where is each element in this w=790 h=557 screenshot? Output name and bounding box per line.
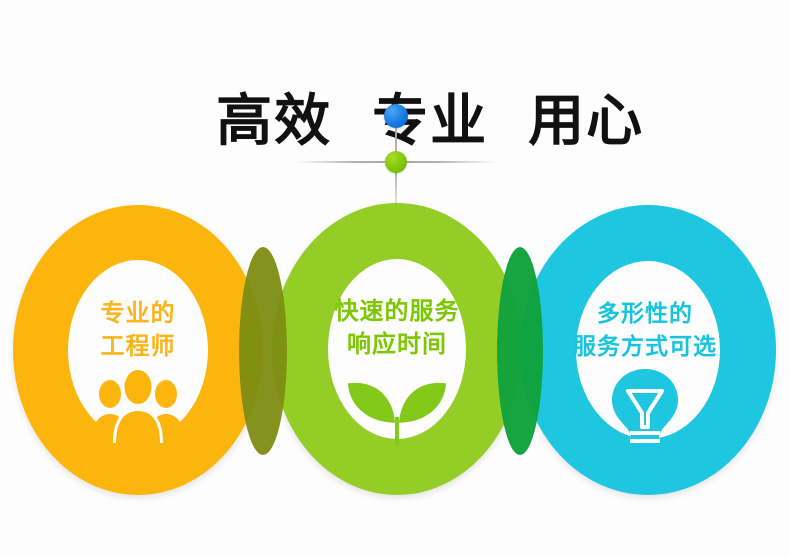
blue-node-icon <box>384 104 408 128</box>
ring-response <box>272 203 522 495</box>
headline-word-3: 用心 <box>528 90 644 152</box>
green-node-icon <box>385 151 407 173</box>
ring-engineers <box>13 205 263 495</box>
promo-poster: 高效专业用心 专业的 工程师 <box>0 0 790 557</box>
ring-flexible <box>520 205 776 495</box>
headline-word-1: 高效 <box>216 90 332 152</box>
